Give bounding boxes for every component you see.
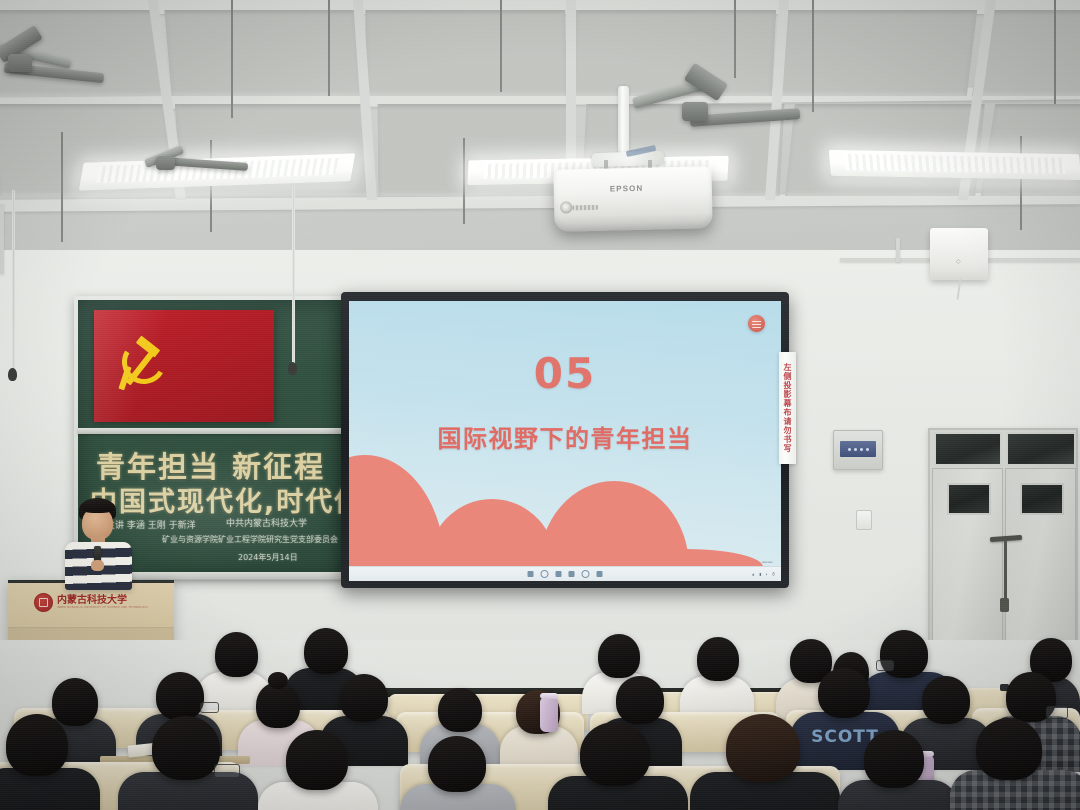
hanging-microphone — [8, 368, 17, 381]
student-head — [616, 676, 664, 724]
wall-mounted-speaker: ◇ — [930, 228, 988, 280]
taskbar-app-icon[interactable] — [569, 571, 575, 577]
panel-indicator — [854, 448, 857, 451]
windows-taskbar[interactable]: ▲ ▮ ◐ ⏱ — [349, 566, 781, 581]
tray-icon[interactable]: ▲ — [751, 572, 755, 577]
student-head — [726, 714, 800, 782]
projector-vent — [572, 205, 598, 211]
speaker-hand — [91, 560, 104, 571]
taskbar-app-icon[interactable] — [597, 571, 603, 577]
student-head — [864, 730, 924, 788]
student-glasses — [214, 764, 240, 778]
projector: EPSON — [553, 166, 712, 232]
speaker-presenter — [58, 498, 150, 590]
bottle-cap — [540, 693, 558, 699]
podium-university-logo: 内蒙古科技大学 INNER MONGOLIA UNIVERSITY OF SCI… — [34, 593, 148, 612]
student-head — [598, 634, 640, 678]
student-head — [256, 682, 300, 728]
student-head — [6, 714, 68, 776]
panel-display — [840, 441, 876, 457]
taskbar-start-icon[interactable] — [528, 571, 534, 577]
door-transom-glass — [1006, 432, 1076, 466]
ceiling-fan — [138, 146, 258, 190]
slide-title: 国际视野下的青年担当 — [349, 419, 781, 454]
projector-pole — [618, 86, 629, 160]
slide-number: 05 — [349, 349, 781, 398]
ceiling-light — [829, 150, 1080, 180]
water-bottle — [540, 698, 558, 732]
student-head — [697, 637, 739, 681]
projector-lens — [560, 201, 572, 213]
blackboard-divider — [78, 428, 348, 434]
student-head — [304, 628, 348, 674]
taskbar-search-icon[interactable] — [541, 570, 549, 578]
taskbar-system-tray[interactable]: ▲ ▮ ◐ ⏱ — [751, 572, 775, 577]
av-control-panel[interactable] — [833, 430, 883, 470]
warning-sign-text: 左侧投影幕布请勿书写 — [782, 363, 793, 453]
speaker-hair-fringe — [80, 500, 115, 513]
projector-brand-label: EPSON — [610, 184, 644, 194]
tray-volume-icon[interactable]: ◐ — [765, 572, 767, 577]
door-lock[interactable] — [1000, 598, 1009, 612]
student-head — [152, 716, 220, 780]
hanging-mic-cable — [292, 186, 295, 364]
student-head — [580, 722, 650, 786]
door-window — [947, 483, 991, 515]
projection-screen-frame: 05 国际视野下的青年担当 ▲ ▮ ◐ — [341, 292, 789, 588]
student-head — [340, 674, 388, 722]
ceiling-fan — [0, 28, 120, 90]
student-head — [438, 688, 482, 732]
door-window — [1020, 483, 1064, 515]
projector-assembly: EPSON — [540, 86, 740, 236]
panel-indicator — [860, 448, 863, 451]
taskbar-browser-icon[interactable] — [582, 570, 590, 578]
student-glasses — [1046, 706, 1068, 719]
wall-device-label: ◇ — [956, 258, 961, 265]
screen-brand-watermark: ▬▬ — [762, 559, 773, 565]
student-head — [976, 718, 1042, 780]
student-head — [818, 668, 870, 718]
panel-indicator — [866, 448, 869, 451]
hanging-microphone — [288, 362, 297, 375]
cpc-party-flag — [94, 310, 274, 422]
university-name-english: INNER MONGOLIA UNIVERSITY OF SCIENCE AND… — [57, 607, 148, 610]
hanging-mic-cable — [12, 190, 15, 370]
student-head — [156, 672, 204, 720]
projected-slide: 05 国际视野下的青年担当 ▲ ▮ ◐ — [349, 301, 781, 581]
wall-switch[interactable] — [856, 510, 872, 530]
student-head — [428, 736, 486, 792]
projection-warning-sign: 左侧投影幕布请勿书写 — [779, 352, 796, 464]
tray-wifi-icon[interactable]: ▮ — [759, 572, 761, 577]
door-latch-rod — [1004, 540, 1007, 602]
student-head — [286, 730, 348, 790]
tray-clock[interactable]: ⏱ — [772, 572, 775, 577]
student-body — [680, 676, 754, 716]
lecture-hall-photo: EPSON ◇ — [0, 0, 1080, 810]
slide-corner-logo — [748, 315, 765, 332]
panel-indicator — [848, 448, 851, 451]
taskbar-explorer-icon[interactable] — [556, 571, 562, 577]
student-head — [52, 678, 98, 726]
student-head — [922, 676, 970, 724]
slide-hill-middle — [427, 499, 557, 567]
university-seal-icon — [34, 593, 53, 612]
student-head — [215, 632, 258, 677]
student-glasses — [876, 660, 894, 671]
student-glasses — [200, 702, 219, 713]
door-transom-glass — [934, 432, 1002, 466]
